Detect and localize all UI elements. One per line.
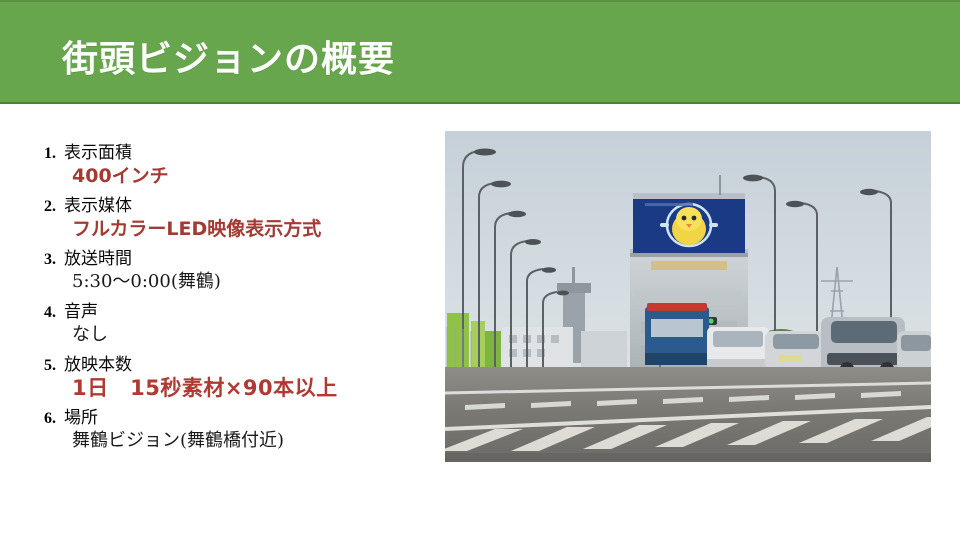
list-item-number: 6. xyxy=(24,410,64,428)
list-item-number: 4. xyxy=(24,304,64,322)
list-item-label: 表示媒体 xyxy=(64,191,132,216)
list-item-label: 音声 xyxy=(64,297,98,322)
list-item-value: 400インチ xyxy=(72,163,424,190)
list-item-value: 1日 15秒素材×90本以上 xyxy=(72,375,424,402)
list-item: 6. 場所 舞鶴ビジョン(舞鶴橋付近) xyxy=(24,403,424,455)
list-item-value: 舞鶴ビジョン(舞鶴橋付近) xyxy=(72,428,424,455)
list-item-value: フルカラーLED映像表示方式 xyxy=(72,216,424,243)
photo-illustration xyxy=(445,131,931,462)
list-item-number: 1. xyxy=(24,145,64,163)
slide: 街頭ビジョンの概要 1. 表示面積 400インチ 2. 表示媒体 フルカラーLE… xyxy=(0,0,960,540)
list-item: 3. 放送時間 5:30〜0:00(舞鶴) xyxy=(24,244,424,296)
list-item: 2. 表示媒体 フルカラーLED映像表示方式 xyxy=(24,191,424,243)
list-item-value: なし xyxy=(72,322,424,349)
list-item-value: 5:30〜0:00(舞鶴) xyxy=(72,269,424,296)
list-item-number: 2. xyxy=(24,198,64,216)
list-item-label: 放送時間 xyxy=(64,244,132,269)
list-item: 1. 表示面積 400インチ xyxy=(24,138,424,190)
list-item: 5. 放映本数 1日 15秒素材×90本以上 xyxy=(24,350,424,402)
list-item-label: 表示面積 xyxy=(64,138,132,163)
street-vision-photo xyxy=(445,131,931,462)
list-item-label: 放映本数 xyxy=(64,350,132,375)
specification-list: 1. 表示面積 400インチ 2. 表示媒体 フルカラーLED映像表示方式 3.… xyxy=(24,138,424,456)
list-item: 4. 音声 なし xyxy=(24,297,424,349)
title-banner: 街頭ビジョンの概要 xyxy=(0,0,960,104)
page-title: 街頭ビジョンの概要 xyxy=(62,30,395,82)
list-item-number: 3. xyxy=(24,251,64,269)
list-item-label: 場所 xyxy=(64,403,98,428)
list-item-number: 5. xyxy=(24,357,64,375)
